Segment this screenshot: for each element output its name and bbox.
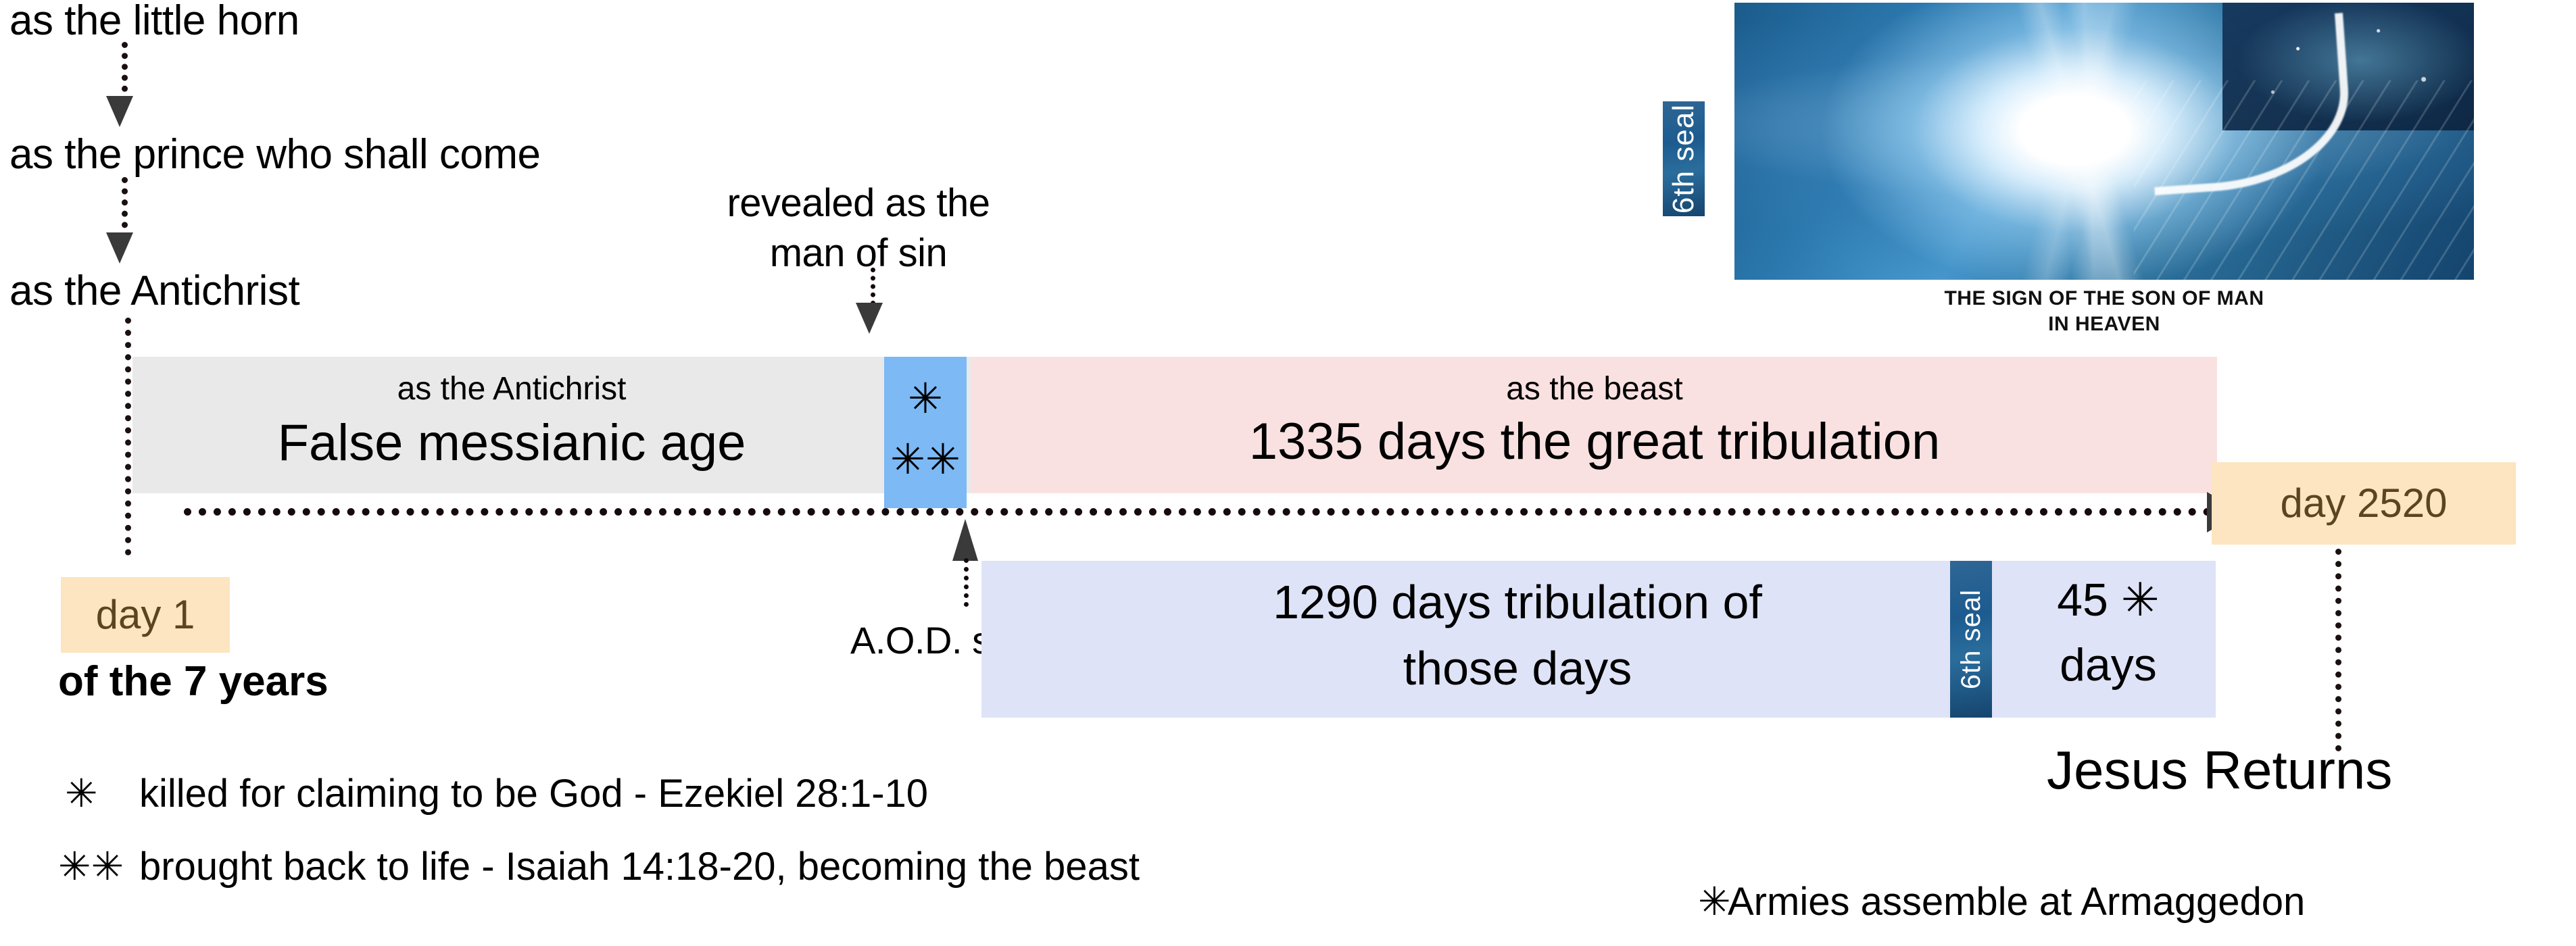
timeline-segment-great-tribulation[interactable]: as the beast 1335 days the great tribula… [972,357,2217,493]
timeline-segment-false-messianic-age[interactable]: as the Antichrist False messianic age [132,357,972,493]
heaven-caption-line1: THE SIGN OF THE SON OF MAN [1661,286,2547,312]
footnote-1-marker: ✳ [65,770,139,816]
chain-label-prince: as the prince who shall come [9,134,541,176]
chain-connector-1 [122,42,128,103]
heaven-caption-line2: IN HEAVEN [1661,312,2547,337]
aod-arrow-icon [952,519,978,561]
day-1-chip[interactable]: day 1 [61,577,230,653]
armageddon-note-marker: ✳ [1698,878,1728,924]
timeline-axis-dotted [184,508,2212,516]
footnote-2-marker: ✳✳ [58,843,139,889]
armageddon-note-text: Armies assemble at Armaggedon [1728,882,2305,922]
revealed-callout-line2: man of sin [669,234,1048,273]
segment-blue-mark-two: ✳✳ [884,439,967,481]
segment-lavender-main-line1: 1290 days tribulation of [1103,576,1932,628]
footnote-1-text: killed for claiming to be God - Ezekiel … [139,774,928,814]
chain-connector-2 [122,177,128,239]
heaven-image [1734,3,2474,280]
day-1-subtitle: of the 7 years [58,661,329,703]
timeline-6th-seal-label: 6th seal [1958,589,1985,689]
chain-arrow-2-icon [106,232,133,264]
segment-45-line2: days [2001,642,2216,688]
day-1-guide-line [125,318,131,555]
chain-label-little-horn: as the little horn [9,0,299,42]
picture-6th-seal-label: 6th seal [1669,104,1699,214]
revealed-callout-arrow-icon [856,303,883,334]
day-2520-guide-line [2335,549,2341,751]
timeline-segment-45-days[interactable]: 45 ✳ days [2001,561,2216,718]
timeline-segment-killed-and-revived[interactable]: ✳ ✳✳ [884,357,967,508]
footnote-1: ✳ killed for claiming to be God - Ezekie… [65,770,928,816]
segment-gray-title: as the Antichrist [132,373,891,405]
armageddon-note: ✳ Armies assemble at Armaggedon [1698,878,2305,924]
footnote-2: ✳✳ brought back to life - Isaiah 14:18-2… [58,843,1140,889]
segment-pink-main: 1335 days the great tribulation [972,416,2217,468]
segment-lavender-main-line2: those days [1103,642,1932,695]
chain-arrow-1-icon [106,96,133,127]
revealed-callout-connector [871,268,875,305]
jesus-returns-label: Jesus Returns [2047,743,2392,797]
footnote-2-text: brought back to life - Isaiah 14:18-20, … [139,847,1140,887]
revealed-callout-line1: revealed as the [669,184,1048,223]
segment-blue-mark-one: ✳ [884,378,967,420]
picture-6th-seal-tab: 6th seal [1663,101,1705,216]
revealed-callout: revealed as the man of sin [669,184,1048,273]
aod-connector [964,558,969,607]
day-2520-chip[interactable]: day 2520 [2212,462,2516,545]
sign-in-heaven-figure: 6th seal THE SIGN OF THE SON OF MAN IN H… [1661,1,2547,337]
segment-gray-main: False messianic age [132,418,891,469]
chain-label-antichrist: as the Antichrist [9,270,299,312]
segment-pink-title: as the beast [972,373,2217,405]
segment-45-line1: 45 ✳ [2001,577,2216,623]
timeline-6th-seal-tab: 6th seal [1950,561,1992,718]
